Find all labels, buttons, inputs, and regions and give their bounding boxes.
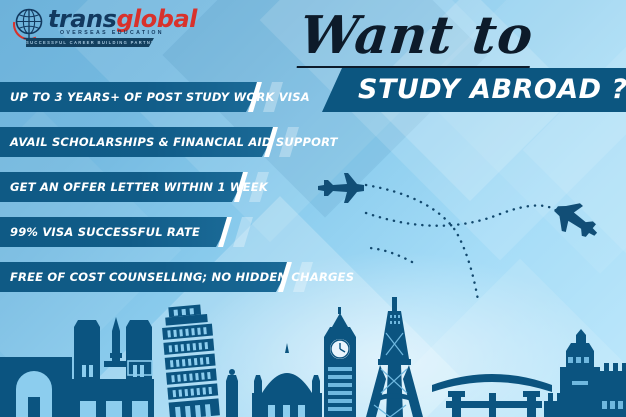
world-landmarks-skyline <box>0 297 626 417</box>
big-ben <box>324 307 356 417</box>
eiffel-tower <box>366 297 423 417</box>
airplane-icon <box>318 173 364 203</box>
great-wall-of-china <box>544 329 626 417</box>
notre-dame-cathedral <box>72 317 154 417</box>
study-abroad-poster: transglobal OVERSEAS EDUCATION SUCCESSFU… <box>0 0 626 417</box>
dotted-flight-path <box>366 185 560 300</box>
minaret <box>226 369 238 417</box>
leaning-tower-of-pisa <box>160 304 220 417</box>
airplane-icon <box>548 194 606 246</box>
taj-mahal-dome <box>252 343 322 417</box>
arc-de-triomphe <box>0 357 72 417</box>
